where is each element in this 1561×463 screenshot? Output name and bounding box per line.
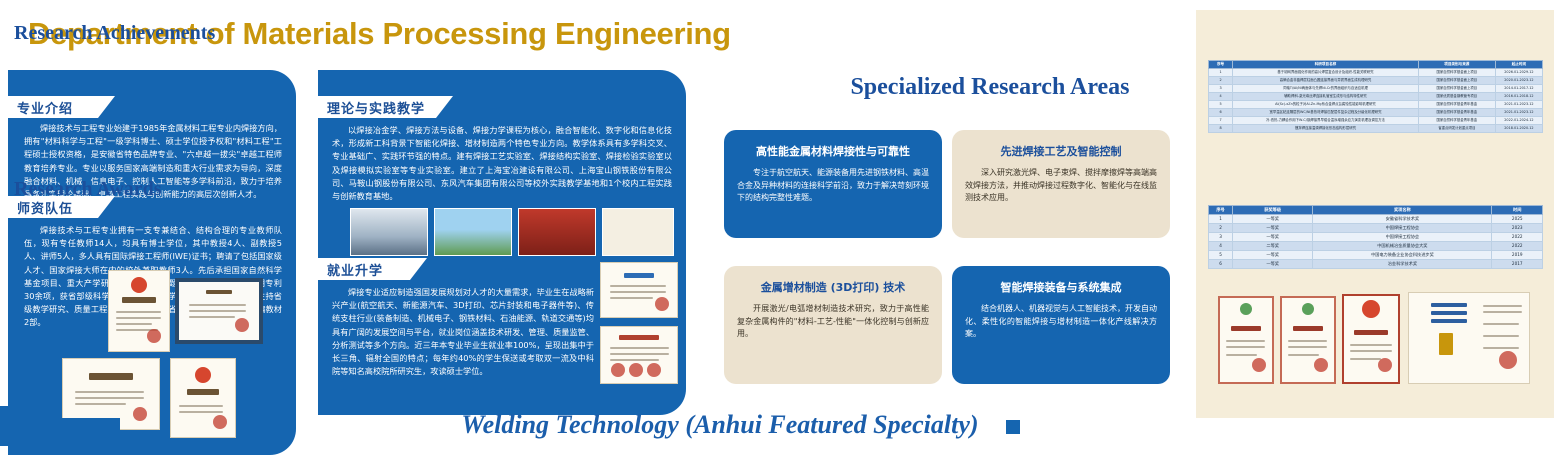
table-cell: 一等奖 [1233, 251, 1313, 260]
table-row: 6宽早温区粘连隔层的WC/Ni基热材焊接匹配层件复杂过程及分级化机理研究国家自然… [1209, 109, 1543, 117]
table-cell: 二等奖 [1233, 242, 1313, 251]
table-cell: 中国机械冶金质量协会大奖 [1313, 242, 1492, 251]
table-cell: 2023 [1492, 224, 1543, 233]
certificate-icon [170, 358, 236, 438]
ribbon-label: 理论与实践教学 [318, 98, 425, 117]
research-awards-title: Research Awards [14, 178, 162, 201]
table-cell: 2022 [1492, 242, 1543, 251]
table-cell: 冶金科学技术奖 [1313, 260, 1492, 269]
table-cell: 国家自然科学基金青年基金 [1418, 109, 1495, 117]
table-cell: 5 [1209, 101, 1233, 109]
table-cell: 基于韧网界面强化作用的高片焊层复合设计及组织-性能关联研究 [1233, 69, 1419, 77]
table-cell: 国家优质基金钢教管专项目 [1418, 93, 1495, 101]
employment-text: 焊接专业适应制造强国发展规划对人才的大量需求，毕业生在战略新兴产业(航空航天、新… [332, 286, 594, 378]
column-header: 获奖等级 [1233, 206, 1313, 215]
table-row: 2高熵合金非晶焊层柱面凸圆连接界面与异质界面生成机理研究国家自然科学基金面上项目… [1209, 77, 1543, 85]
research-area-card-1: 高性能金属材料焊接性与可靠性 专注于航空航天、能源装备用先进钢铁材料、高温合金及… [724, 130, 942, 238]
table-cell: 5 [1209, 251, 1233, 260]
card-title: 高性能金属材料焊接性与可靠性 [737, 143, 929, 159]
table-cell: 搅拌焊连接温调焊接化形态结构形层研究 [1233, 125, 1419, 133]
table-row: 4辅助焊斜-激光填丝焊连接轧管室生成形与结构特性研究国家优质基金钢教管专项目20… [1209, 93, 1543, 101]
table-cell: 2022.01-2024.12 [1495, 117, 1542, 125]
certificate-icon [175, 278, 263, 344]
table-cell: 省重点研发计划重点项目 [1418, 125, 1495, 133]
table-row: 8搅拌焊连接温调焊接化形态结构形层研究省重点研发计划重点项目2018.01-20… [1209, 125, 1543, 133]
table-cell: 8 [1209, 125, 1233, 133]
ribbon-tail-icon [98, 96, 115, 118]
table-cell: 辅助焊斜-激光填丝焊连接轧管室生成形与结构特性研究 [1233, 93, 1419, 101]
table-row: 3一等奖中国焊接工程协会2022 [1209, 233, 1543, 242]
ribbon-theory-practice: 理论与实践教学 [318, 96, 436, 118]
ribbon-major-intro: 专业介绍 [8, 96, 98, 118]
table-cell: 同轴Ti/Al/Ni两面体与先焊Ni-Cr的界面组织与自适应机理 [1233, 85, 1419, 93]
table-row: 5Al(Sc)-xZn的粒子对Al-Zn-Mg系合金焊点氢腐蚀性能影响机理研究国… [1209, 101, 1543, 109]
column-header: 奖项名称 [1313, 206, 1492, 215]
table-row: 1基于韧网界面强化作用的高片焊层复合设计及组织-性能关联研究国家自然科学基金面上… [1209, 69, 1543, 77]
table-cell: 2017 [1492, 260, 1543, 269]
table-cell: 一等奖 [1233, 224, 1313, 233]
certificate-icon [1218, 296, 1274, 384]
table-row: 3同轴Ti/Al/Ni两面体与先焊Ni-Cr的界面组织与自适应机理国家自然科学基… [1209, 85, 1543, 93]
column-header: 时间 [1492, 206, 1543, 215]
table-cell: 安徽省科学技术奖 [1313, 215, 1492, 224]
table-cell: 中国电力装备企业协会科技进步奖 [1313, 251, 1492, 260]
table-cell: 2014.01-2017.12 [1495, 85, 1542, 93]
card-title: 先进焊接工艺及智能控制 [965, 143, 1157, 159]
theory-practice-text: 以焊接冶金学、焊接方法与设备、焊接力学课程为核心，融合智能化、数字化和信息化技术… [332, 124, 672, 203]
table-row: 4二等奖中国机械冶金质量协会大奖2022 [1209, 242, 1543, 251]
table-cell: 国家自然科学基金面上项目 [1418, 69, 1495, 77]
table-cell: 2 [1209, 77, 1233, 85]
table-header-row: 序号科研项目名称项目类别与来源起止时间 [1209, 61, 1543, 69]
table-cell: 2019 [1492, 251, 1543, 260]
table-cell: 3 [1209, 85, 1233, 93]
column-header: 科研项目名称 [1233, 61, 1419, 69]
ribbon-label: 专业介绍 [8, 98, 73, 117]
table-cell: 一等奖 [1233, 215, 1313, 224]
column-header: 序号 [1209, 206, 1233, 215]
research-area-card-4: 智能焊接装备与系统集成 结合机器人、机器视觉与人工智能技术，开发自动化、柔性化的… [952, 266, 1170, 384]
table-cell: 4 [1209, 93, 1233, 101]
card-body: 结合机器人、机器视觉与人工智能技术，开发自动化、柔性化的智能焊接与增材制造一体化… [965, 303, 1157, 341]
table-cell: Al(Sc)-xZn的粒子对Al-Zn-Mg系合金焊点氢腐蚀性能影响机理研究 [1233, 101, 1419, 109]
table-cell: 6 [1209, 109, 1233, 117]
table-cell: 国家自然科学基金青年基金 [1418, 117, 1495, 125]
certificate-icon [1280, 296, 1336, 384]
table-row: 1一等奖安徽省科学技术奖2025 [1209, 215, 1543, 224]
table-cell: 国家自然科学基金青年基金 [1418, 101, 1495, 109]
column-header: 起止时间 [1495, 61, 1542, 69]
photo-icon [434, 208, 512, 256]
ribbon-tail-icon [436, 96, 453, 118]
table-cell: 2020.01-2023.12 [1495, 77, 1542, 85]
table-cell: 中国焊接工程协会 [1313, 224, 1492, 233]
table-cell: 一等奖 [1233, 260, 1313, 269]
table-cell: 2025 [1492, 215, 1543, 224]
ribbon-label: 就业升学 [318, 260, 383, 279]
research-area-card-3: 金属增材制造 (3D打印) 技术 开展激光/电弧增材制造技术研究，致力于高性能复… [724, 266, 942, 384]
table-cell: 1 [1209, 69, 1233, 77]
table-row: 7冷-低热-力耦合作用下W-C/钢焊接界早熔合温序增强余应力演变机理及调控方法国… [1209, 117, 1543, 125]
table-row: 6一等奖冶金科学技术奖2017 [1209, 260, 1543, 269]
research-achievements-title: Research Achievements [14, 22, 215, 45]
photo-icon [602, 208, 674, 256]
table-cell: 国家自然科学基金面上项目 [1418, 77, 1495, 85]
table-cell: 6 [1209, 260, 1233, 269]
table-cell: 1 [1209, 215, 1233, 224]
table-cell: 4 [1209, 242, 1233, 251]
photo-icon [518, 208, 596, 256]
table-cell: 宽早温区粘连隔层的WC/Ni基热材焊接匹配层件复杂过程及分级化机理研究 [1233, 109, 1419, 117]
banner-bar-stem [0, 418, 120, 432]
research-area-card-2: 先进焊接工艺及智能控制 深入研究激光焊、电子束焊、搅拌摩擦焊等高端高效焊接方法，… [952, 130, 1170, 238]
table-cell: 2 [1209, 224, 1233, 233]
table-row: 2一等奖中国焊接工程协会2023 [1209, 224, 1543, 233]
ribbon-employment: 就业升学 [318, 258, 410, 280]
table-cell: 高熵合金非晶焊层柱面凸圆连接界面与异质界面生成机理研究 [1233, 77, 1419, 85]
table-cell: 冷-低热-力耦合作用下W-C/钢焊接界早熔合温序增强余应力演变机理及调控方法 [1233, 117, 1419, 125]
table-cell: 7 [1209, 117, 1233, 125]
photo-icon [350, 208, 428, 256]
certificate-icon [600, 326, 678, 384]
table-cell: 2021.01-2023.12 [1495, 109, 1542, 117]
table-cell: 2018.01-2020.12 [1495, 125, 1542, 133]
card-title: 智能焊接装备与系统集成 [965, 279, 1157, 295]
table-row: 5一等奖中国电力装备企业协会科技进步奖2019 [1209, 251, 1543, 260]
table-cell: 2021.01-2023.12 [1495, 101, 1542, 109]
table-cell: 国家自然科学基金面上项目 [1418, 85, 1495, 93]
ribbon-tail-icon [410, 258, 427, 280]
table-header-row: 序号获奖等级奖项名称时间 [1209, 206, 1543, 215]
column-header: 项目类别与来源 [1418, 61, 1495, 69]
bottom-banner-text: Welding Technology (Anhui Featured Speci… [400, 410, 1040, 440]
research-achievements-table: 序号科研项目名称项目类别与来源起止时间1基于韧网界面强化作用的高片焊层复合设计及… [1208, 60, 1543, 133]
table-cell: 3 [1209, 233, 1233, 242]
table-cell: 一等奖 [1233, 233, 1313, 242]
certificate-icon [600, 262, 678, 318]
table-cell: 2026.01-2029.12 [1495, 69, 1542, 77]
card-title: 金属增材制造 (3D打印) 技术 [737, 279, 929, 295]
certificate-icon [108, 270, 170, 352]
certificate-icon [1408, 292, 1530, 384]
research-awards-table: 序号获奖等级奖项名称时间1一等奖安徽省科学技术奖20252一等奖中国焊接工程协会… [1208, 205, 1543, 269]
table-cell: 2022 [1492, 233, 1543, 242]
certificate-icon [1342, 294, 1400, 384]
table-cell: 中国焊接工程协会 [1313, 233, 1492, 242]
table-cell: 2016.01-2018.12 [1495, 93, 1542, 101]
card-body: 专注于航空航天、能源装备用先进钢铁材料、高温合金及异种材料的连接科学前沿，致力于… [737, 167, 929, 205]
card-body: 开展激光/电弧增材制造技术研究，致力于高性能复杂金属构件的"材料-工艺-性能"一… [737, 303, 929, 341]
card-body: 深入研究激光焊、电子束焊、搅拌摩擦焊等高端高效焊接方法，并推动焊接过程数字化、智… [965, 167, 1157, 205]
column-header: 序号 [1209, 61, 1233, 69]
research-areas-title: Specialized Research Areas [760, 74, 1220, 101]
